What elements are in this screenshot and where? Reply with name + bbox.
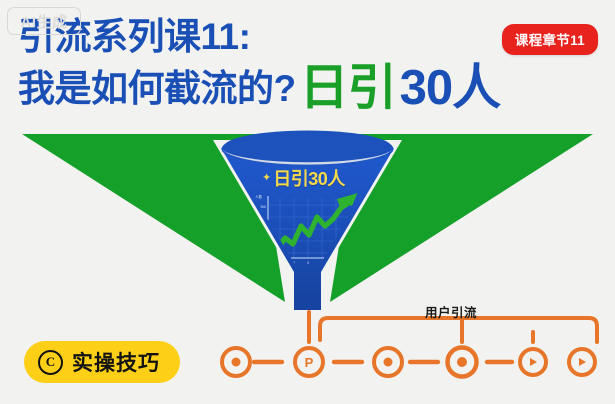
poster-canvas: 人数 300 200 100 1 2 3 4 5 6 [0,0,615,404]
funnel-caption-text: 日引30人 [273,165,345,191]
headline-line-1: 引流系列课11: [18,18,500,56]
flow-node-play-2[interactable] [569,349,595,375]
ai-generated-watermark: AI生成 [7,7,81,35]
flow-node-play-1[interactable] [520,349,546,375]
headline-line-2: 我是如何截流的? [18,70,296,108]
funnel-caption: ✦ 日引30人 [262,165,345,191]
tips-badge[interactable]: C 实操技巧 [24,341,180,383]
chapter-badge[interactable]: 课程章节11 [502,24,598,55]
flow-node-p[interactable]: P [295,348,323,376]
flow-node-dot-3[interactable] [448,348,477,377]
sprout-icon: ✦ [262,173,271,184]
headline-emphasis-blue: 30人 [400,64,501,114]
headline-line-2-row: 我是如何截流的? 日引 30人 [18,61,500,111]
chart-ylabel: 人数 [255,194,262,199]
flow-diagram-label: 用户引流 [425,302,477,321]
copyright-icon: C [38,350,63,375]
headline-emphasis-green: 日引 [300,64,396,114]
tips-badge-label: 实操技巧 [72,347,160,377]
svg-text:1: 1 [279,261,281,265]
svg-text:P: P [305,355,314,370]
flow-node-dot-1[interactable] [222,348,250,376]
flow-node-dot-2[interactable] [374,348,402,376]
headline-block: 引流系列课11: 我是如何截流的? 日引 30人 [18,18,500,111]
svg-text:3: 3 [307,261,309,265]
